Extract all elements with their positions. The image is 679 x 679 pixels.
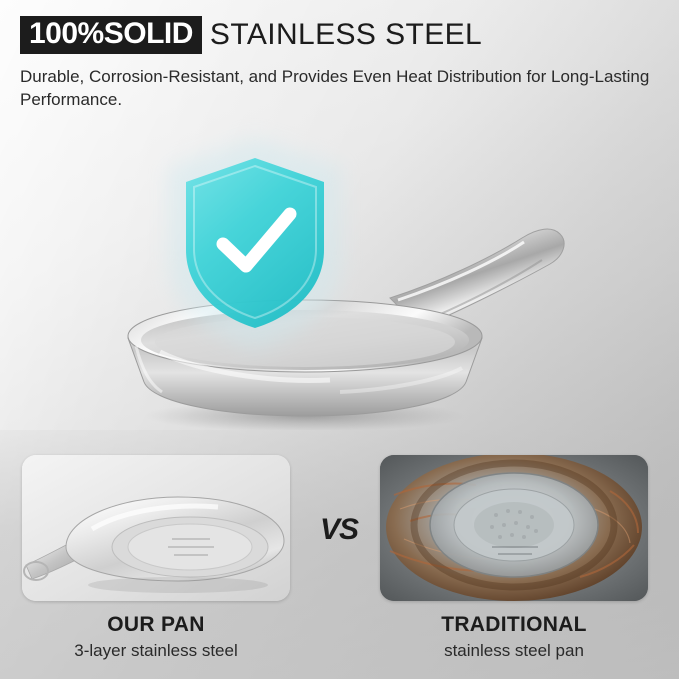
hero-product-area bbox=[0, 100, 679, 440]
badge-100-percent-solid: 100%SOLID bbox=[20, 16, 202, 54]
traditional-pan-title: TRADITIONAL bbox=[380, 613, 648, 637]
headline: 100%SOLID STAINLESS STEEL bbox=[20, 16, 659, 54]
comparison-section: VS OUR PAN 3-layer stainless steel TRADI… bbox=[0, 455, 679, 679]
our-pan-caption: OUR PAN 3-layer stainless steel bbox=[22, 613, 290, 661]
our-pan-card bbox=[22, 455, 290, 601]
vs-label: VS bbox=[320, 513, 358, 547]
shield-check-icon bbox=[178, 152, 332, 334]
traditional-pan-photo bbox=[380, 455, 648, 601]
our-pan-title: OUR PAN bbox=[22, 613, 290, 637]
shield-badge bbox=[156, 128, 354, 358]
header: 100%SOLID STAINLESS STEEL Durable, Corro… bbox=[0, 0, 679, 112]
traditional-pan-caption: TRADITIONAL stainless steel pan bbox=[380, 613, 648, 661]
our-pan-photo bbox=[22, 455, 290, 601]
promo-image: 100%SOLID STAINLESS STEEL Durable, Corro… bbox=[0, 0, 679, 679]
our-pan-subtitle: 3-layer stainless steel bbox=[22, 641, 290, 661]
traditional-pan-card bbox=[380, 455, 648, 601]
vs-divider: VS bbox=[306, 507, 372, 553]
traditional-pan-subtitle: stainless steel pan bbox=[380, 641, 648, 661]
headline-text: STAINLESS STEEL bbox=[210, 20, 482, 50]
